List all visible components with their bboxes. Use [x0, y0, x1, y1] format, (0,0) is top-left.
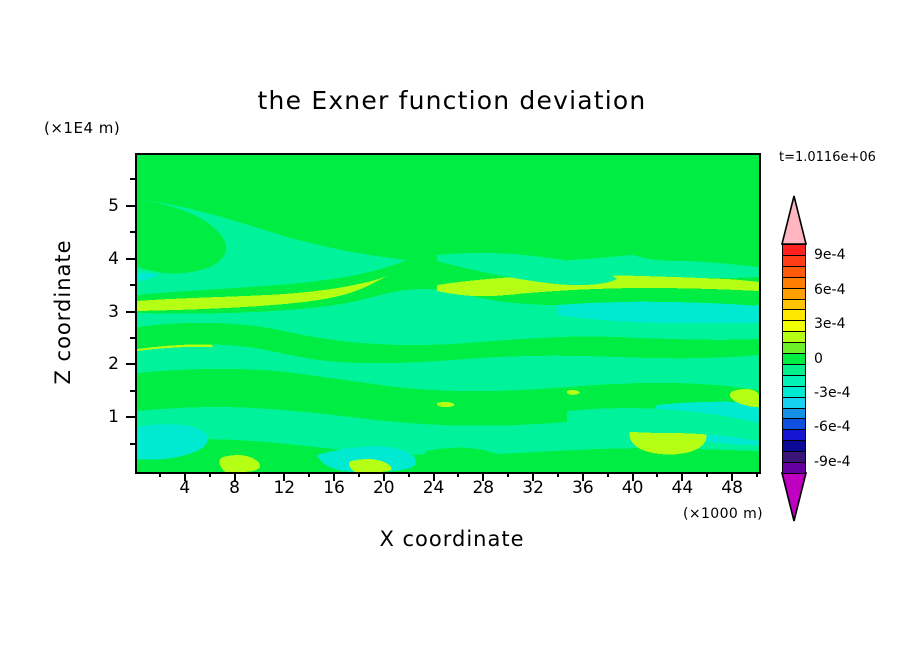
x-tick-minor	[408, 472, 410, 477]
colorbar-tick-label: 9e-4	[814, 247, 845, 263]
x-tick-label: 28	[472, 478, 494, 498]
colorbar-tick-label: 3e-4	[814, 316, 845, 332]
x-tick-minor	[656, 472, 658, 477]
colorbar[interactable]	[782, 196, 806, 521]
x-tick-minor	[756, 472, 758, 477]
x-axis-title: X coordinate	[0, 527, 904, 551]
y-tick-minor	[130, 284, 135, 286]
x-tick-minor	[457, 472, 459, 477]
x-tick-label: 36	[572, 478, 594, 498]
colorbar-tick-label: -9e-4	[814, 454, 851, 470]
x-tick-label: 12	[273, 478, 295, 498]
x-tick-label: 16	[323, 478, 345, 498]
x-axis-units-label: (×1000 m)	[683, 506, 763, 522]
timestamp-annotation: t=1.0116e+06	[779, 150, 876, 165]
colorbar-under-arrow	[782, 473, 806, 521]
x-tick-label: 4	[179, 478, 190, 498]
y-tick-major	[126, 205, 135, 207]
y-axis-units-label: (×1E4 m)	[44, 119, 120, 137]
y-tick-minor	[130, 390, 135, 392]
y-tick-label: 5	[91, 196, 119, 216]
x-tick-label: 20	[373, 478, 395, 498]
y-tick-minor	[130, 443, 135, 445]
x-tick-minor	[308, 472, 310, 477]
y-tick-minor	[130, 231, 135, 233]
x-tick-minor	[507, 472, 509, 477]
y-tick-label: 1	[91, 407, 119, 427]
x-tick-label: 8	[229, 478, 240, 498]
y-tick-minor	[130, 337, 135, 339]
colorbar-band	[782, 462, 806, 474]
x-tick-minor	[209, 472, 211, 477]
y-tick-label: 2	[91, 354, 119, 374]
colorbar-tick-label: 6e-4	[814, 282, 845, 298]
y-tick-major	[126, 258, 135, 260]
contour-field	[137, 155, 759, 472]
figure-canvas: the Exner function deviation (×1E4 m) t=…	[0, 0, 904, 654]
x-tick-minor	[358, 472, 360, 477]
y-tick-major	[126, 311, 135, 313]
colorbar-tick-label: -3e-4	[814, 385, 851, 401]
y-tick-label: 4	[91, 249, 119, 269]
x-tick-minor	[557, 472, 559, 477]
y-tick-label: 3	[91, 302, 119, 322]
y-tick-major	[126, 363, 135, 365]
colorbar-over-arrow	[782, 196, 806, 244]
x-tick-minor	[607, 472, 609, 477]
x-tick-minor	[706, 472, 708, 477]
y-tick-major	[126, 416, 135, 418]
x-tick-label: 32	[522, 478, 544, 498]
y-tick-minor	[130, 178, 135, 180]
contour-plot-area	[135, 153, 761, 474]
y-axis-title: Z coordinate	[51, 239, 75, 384]
x-tick-minor	[159, 472, 161, 477]
colorbar-tick-label: -6e-4	[814, 419, 851, 435]
colorbar-tick-label: 0	[814, 351, 823, 367]
page-title: the Exner function deviation	[0, 86, 904, 115]
x-tick-label: 40	[622, 478, 644, 498]
x-tick-label: 44	[672, 478, 694, 498]
x-tick-label: 48	[721, 478, 743, 498]
x-tick-minor	[258, 472, 260, 477]
x-tick-label: 24	[423, 478, 445, 498]
